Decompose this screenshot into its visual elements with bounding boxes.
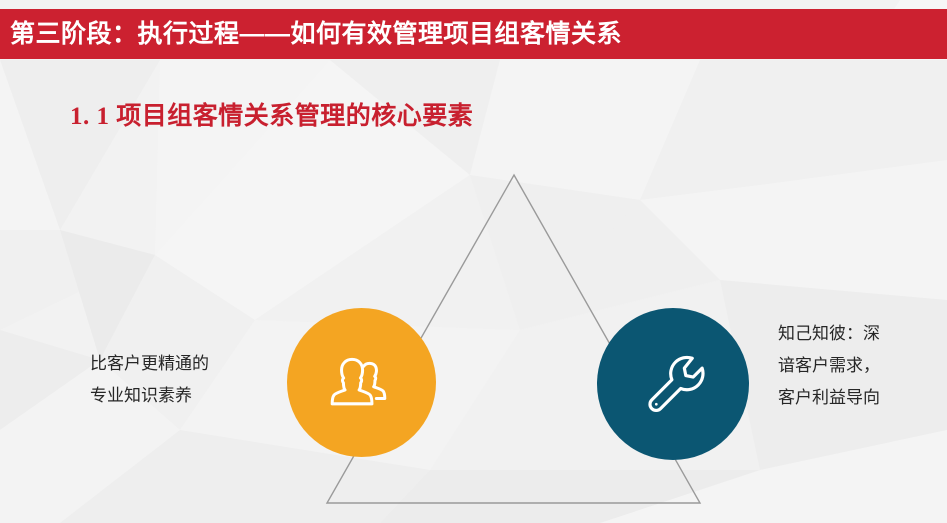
label-right-line3: 客户利益导向 [778,382,880,414]
wrench-icon [634,345,712,423]
label-left-line1: 比客户更精通的 [90,348,209,380]
label-right-line1: 知己知彼：深 [778,318,880,350]
label-left: 比客户更精通的 专业知识素养 [90,348,209,412]
slide: 第三阶段：执行过程——如何有效管理项目组客情关系 1. 1 项目组客情关系管理的… [0,0,947,523]
node-tool[interactable] [597,308,749,460]
page-title: 第三阶段：执行过程——如何有效管理项目组客情关系 [0,22,622,47]
label-left-line2: 专业知识素养 [90,380,209,412]
label-right: 知己知彼：深 谙客户需求， 客户利益导向 [778,318,880,414]
node-people[interactable] [287,308,436,457]
label-right-line2: 谙客户需求， [778,350,880,382]
title-banner: 第三阶段：执行过程——如何有效管理项目组客情关系 [0,9,947,59]
triangle-outline [0,0,947,523]
two-people-icon [325,346,399,420]
section-subtitle: 1. 1 项目组客情关系管理的核心要素 [70,96,473,132]
